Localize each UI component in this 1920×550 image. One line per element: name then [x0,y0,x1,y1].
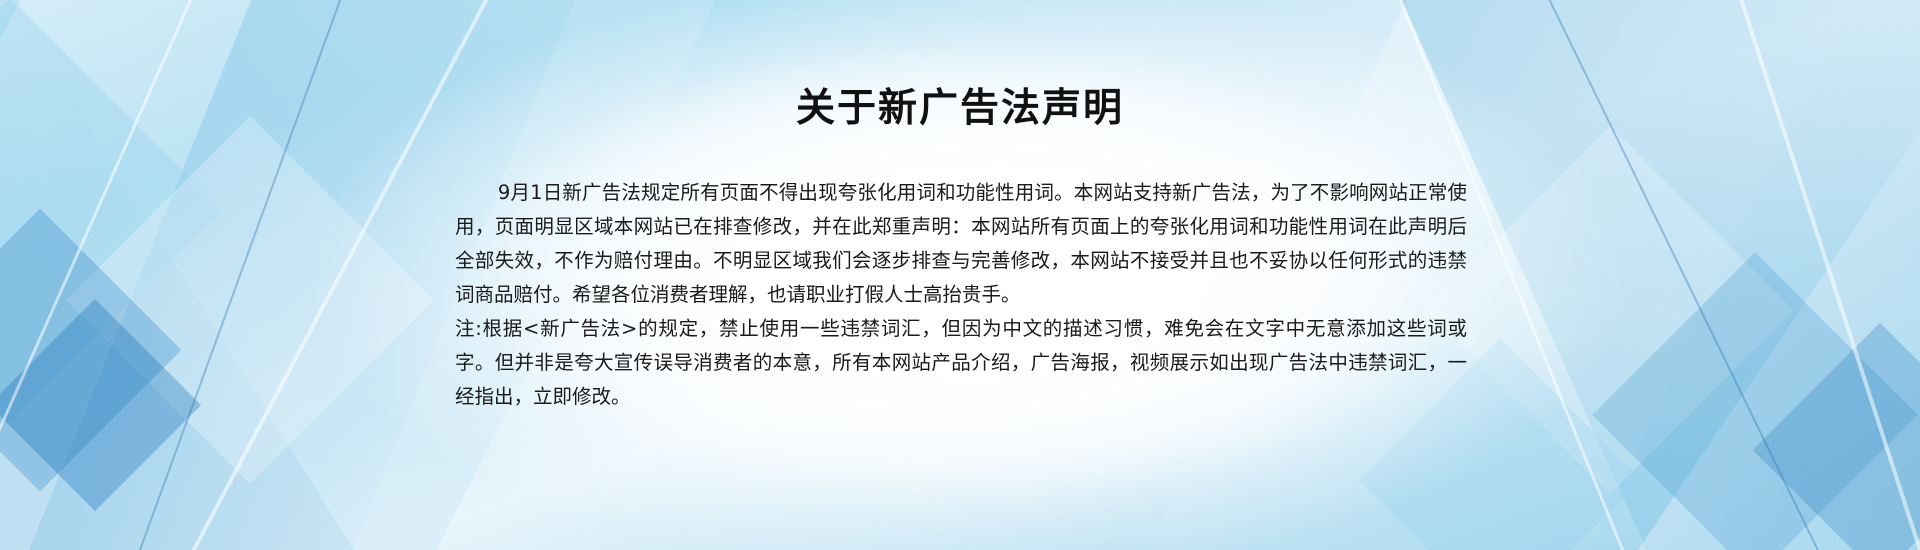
statement-paragraph-1: 9月1日新广告法规定所有页面不得出现夸张化用词和功能性用词。本网站支持新广告法，… [455,176,1467,312]
statement-paragraph-2: 注:根据<新广告法>的规定，禁止使用一些违禁词汇，但因为中文的描述习惯，难免会在… [455,312,1467,414]
page-title: 关于新广告法声明 [0,88,1920,131]
statement-body: 9月1日新广告法规定所有页面不得出现夸张化用词和功能性用词。本网站支持新广告法，… [455,176,1467,414]
statement-content: 关于新广告法声明 9月1日新广告法规定所有页面不得出现夸张化用词和功能性用词。本… [0,0,1920,550]
advertising-law-statement-banner: 关于新广告法声明 9月1日新广告法规定所有页面不得出现夸张化用词和功能性用词。本… [0,0,1920,550]
